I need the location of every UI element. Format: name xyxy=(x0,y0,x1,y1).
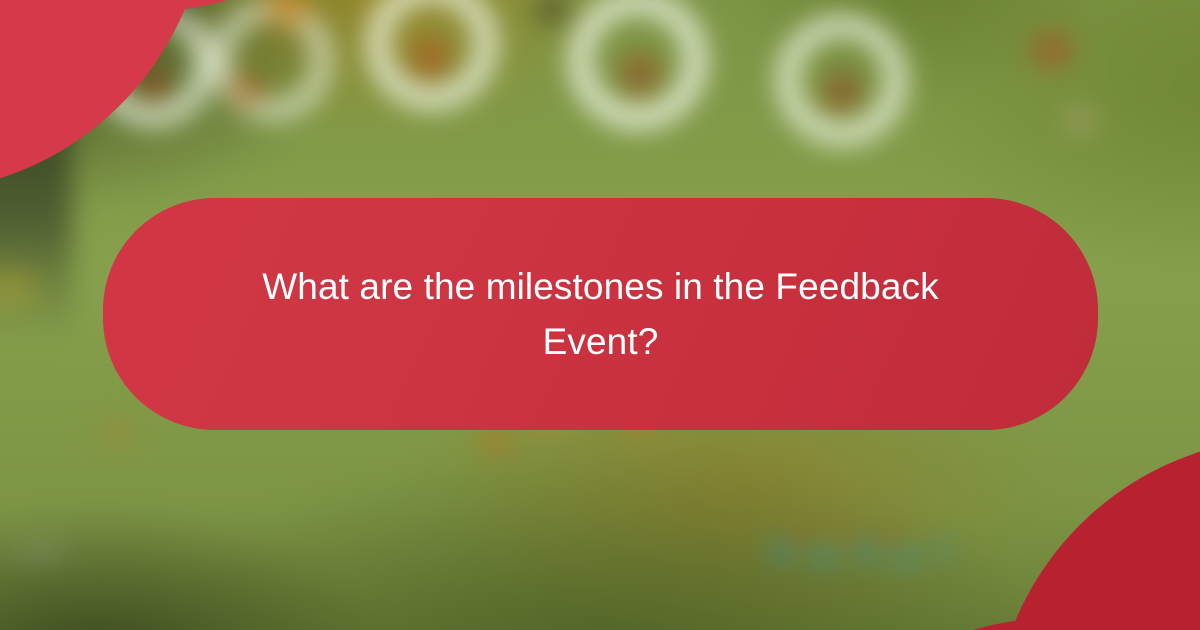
question-text: What are the milestones in the Feedback … xyxy=(246,259,956,369)
question-card: What are the milestones in the Feedback … xyxy=(103,198,1098,430)
background-game-panel-glow xyxy=(0,240,62,336)
background-cyan-unit xyxy=(60,44,88,84)
page-stage: What are the milestones in the Feedback … xyxy=(0,0,1200,630)
